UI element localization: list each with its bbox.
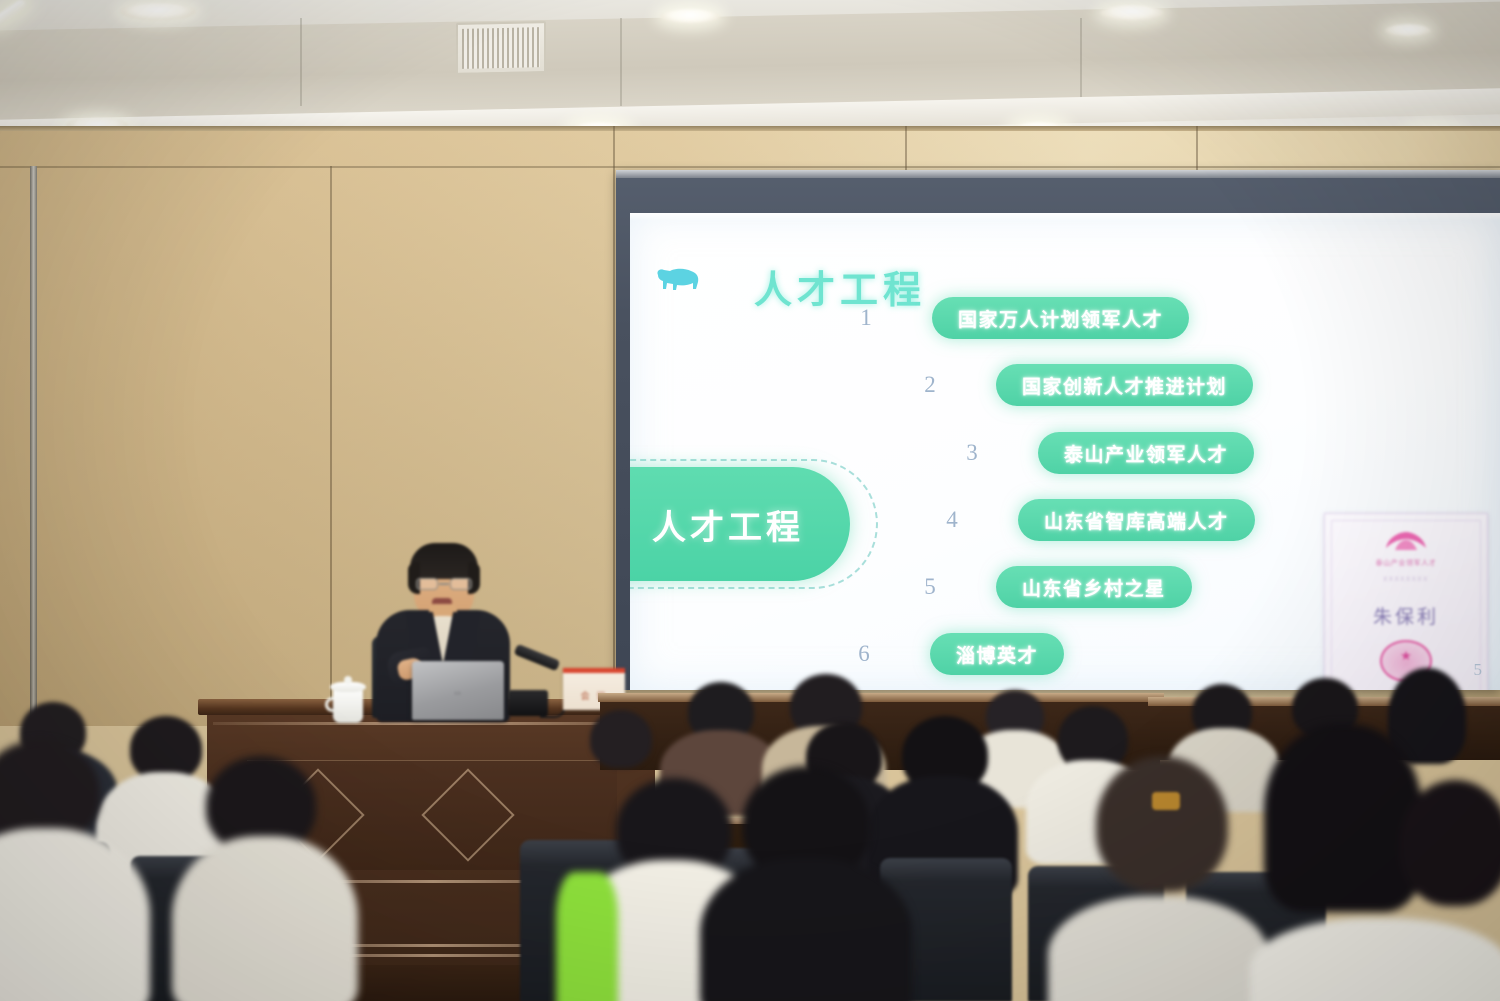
glasses-lens [416, 578, 438, 590]
item-number: 1 [844, 305, 888, 331]
certificate-line: XXXXXXXX [1325, 576, 1487, 583]
item-pill-label: 国家创新人才推进计划 [1022, 372, 1227, 399]
glasses-bridge [439, 583, 449, 585]
audience-head [590, 710, 652, 768]
glasses-icon [416, 578, 472, 590]
wall-seam [905, 126, 907, 176]
wall-rail [0, 126, 1500, 131]
glasses-lens [450, 578, 472, 590]
slide-list-item: 4 山东省智库高端人才 [930, 499, 1255, 541]
item-pill-label: 山东省乡村之星 [1022, 574, 1166, 601]
audience-coat [172, 836, 358, 1001]
slide-list-item: 2 国家创新人才推进计划 [908, 364, 1253, 406]
ceiling [0, 0, 1500, 132]
feature-pill-label: 人才工程 [652, 500, 804, 549]
wall-metal-strip [30, 166, 37, 726]
ceiling-light [1100, 5, 1164, 21]
item-pill-label: 山东省智库高端人才 [1044, 507, 1229, 534]
item-pill: 国家万人计划领军人才 [932, 297, 1189, 339]
item-pill-label: 泰山产业领军人才 [1064, 440, 1228, 467]
slide-glow [630, 213, 1500, 221]
vent-grill [462, 27, 540, 69]
audience-head [1400, 780, 1500, 906]
ceiling-light [1385, 24, 1431, 37]
projection-screen: 人才工程 人才工程 1 国家万人计划领军人才 2 国家创新人才推进计划 3 [616, 170, 1500, 690]
audience-head [1264, 724, 1422, 912]
slide-list-item: 1 国家万人计划领军人才 [844, 297, 1189, 339]
item-pill: 山东省智库高端人才 [1018, 499, 1255, 541]
hvac-vent-icon [456, 21, 546, 75]
certificate-name: 朱保利 [1325, 602, 1487, 629]
audience-coat [700, 858, 912, 1001]
item-number: 3 [950, 440, 994, 466]
ceiling-light [0, 0, 27, 27]
ceiling-seam [300, 18, 302, 106]
item-pill: 山东省乡村之星 [996, 566, 1192, 608]
ceiling-light [660, 9, 720, 24]
ceiling-light [120, 3, 196, 20]
audience-coat [1250, 918, 1500, 1001]
item-number: 4 [930, 507, 974, 533]
item-pill-label: 国家万人计划领军人才 [958, 305, 1163, 332]
slide-list-item: 5 山东省乡村之星 [908, 566, 1192, 608]
sheep-silhouette-icon [652, 261, 704, 295]
certificate-logo-icon [1382, 530, 1430, 554]
ceiling-seam [620, 18, 622, 106]
ceiling-seam [1080, 18, 1082, 106]
certificate-org: 泰山产业领军人才 [1325, 558, 1487, 568]
item-number: 5 [908, 574, 952, 600]
screen-chrome [616, 170, 1500, 178]
feature-pill: 人才工程 [630, 467, 850, 581]
item-pill: 泰山产业领军人才 [1038, 432, 1254, 474]
item-pill: 国家创新人才推进计划 [996, 364, 1253, 406]
wall-seam [0, 166, 1500, 168]
wall-seam [330, 166, 332, 726]
audience-desk-top [598, 693, 1164, 702]
audience-hairclip-icon [1152, 792, 1180, 810]
audience-head [1096, 756, 1228, 892]
slide-list-item: 3 泰山产业领军人才 [950, 432, 1254, 474]
item-number: 2 [908, 372, 952, 398]
audience-coat-accent [556, 872, 618, 1001]
audience [0, 660, 1500, 1001]
wall-seam [1196, 126, 1198, 174]
audience-coat [1048, 896, 1268, 1001]
wall-seam [613, 126, 615, 726]
presentation-slide: 人才工程 人才工程 1 国家万人计划领军人才 2 国家创新人才推进计划 3 [630, 213, 1500, 690]
lecture-hall-photo: 人才工程 人才工程 1 国家万人计划领军人才 2 国家创新人才推进计划 3 [0, 0, 1500, 1001]
